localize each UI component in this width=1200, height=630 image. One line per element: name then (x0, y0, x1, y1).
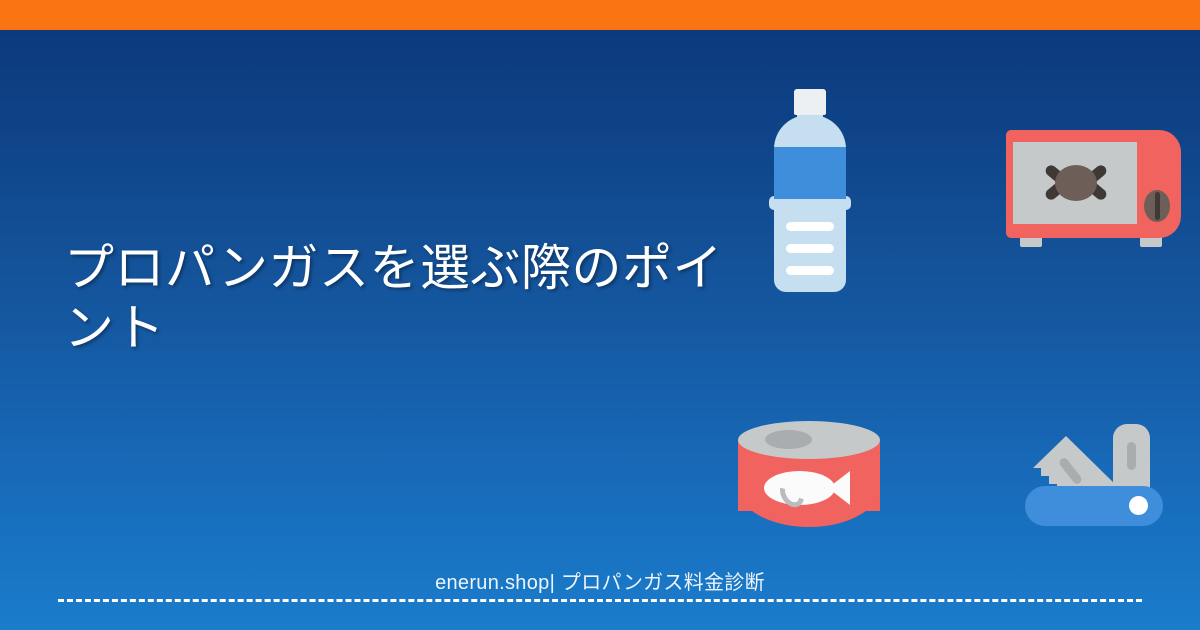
water-bottle-icon (766, 89, 854, 292)
page-title: プロパンガスを選ぶ際のポイント (64, 238, 744, 358)
pocket-knife-icon (1025, 424, 1167, 528)
footer-branding: enerun.shop| プロパンガス料金診断 (0, 570, 1200, 596)
safe-icon (1006, 130, 1181, 248)
knife-blade-groove (1127, 442, 1136, 470)
safe-dial (1055, 165, 1097, 201)
bottle-stripe (786, 266, 834, 275)
bottle-label-band (774, 147, 846, 199)
share-card: プロパンガスを選ぶ際のポイント enerun.shop| プロパンガス料金診断 (0, 0, 1200, 630)
knife-emblem-dot (1129, 496, 1148, 515)
knife-saw-blade (1033, 436, 1119, 492)
safe-handle-bar (1155, 192, 1160, 220)
bottle-stripe (786, 222, 834, 231)
can-pull-tab (765, 430, 812, 449)
canned-fish-icon (738, 421, 880, 529)
bottle-cap (794, 89, 826, 115)
bottle-stripe (786, 244, 834, 253)
footer-divider (58, 599, 1142, 602)
